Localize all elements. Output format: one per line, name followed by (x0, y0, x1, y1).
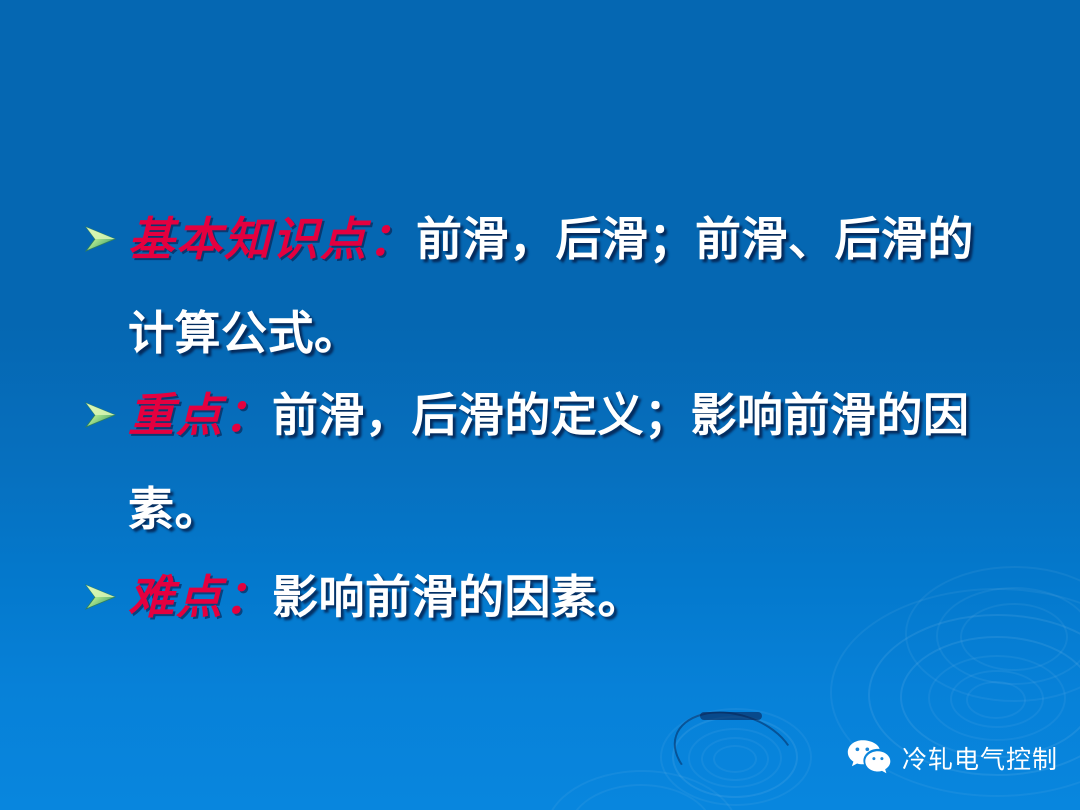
bullet-line: 基本知识点：前滑，后滑；前滑、后滑的 (84, 198, 1024, 292)
bullet-2-body-line-2: 素。 (84, 468, 221, 551)
bullet-item-3: 难点：影响前滑的因素。 (84, 556, 1024, 650)
bullet-2-first-line: 重点：前滑，后滑的定义；影响前滑的因 (84, 374, 970, 457)
bullet-item-2: 重点：前滑，后滑的定义；影响前滑的因 素。 (84, 374, 1024, 562)
wechat-watermark: 冷轧电气控制 (846, 738, 1058, 778)
slide-content: 基本知识点：前滑，后滑；前滑、后滑的 计算公式。 (0, 0, 1080, 810)
bullet-3-first-line: 难点：影响前滑的因素。 (84, 556, 644, 639)
wechat-account-name: 冷轧电气控制 (902, 740, 1058, 776)
bullet-2-lead: 重点： (128, 390, 272, 441)
green-arrowhead-bullet-icon (84, 582, 118, 612)
bullet-3-lead: 难点： (128, 572, 272, 623)
bullet-line: 重点：前滑，后滑的定义；影响前滑的因 (84, 374, 1024, 468)
bullet-line: 计算公式。 (84, 292, 1024, 386)
bullet-1-body-line-1: 前滑，后滑；前滑、后滑的 (416, 214, 974, 265)
bullet-1-first-line: 基本知识点：前滑，后滑；前滑、后滑的 (84, 198, 974, 281)
green-arrowhead-bullet-icon (84, 400, 118, 430)
bullet-1-body-line-2: 计算公式。 (84, 292, 361, 375)
wechat-logo-icon (846, 738, 892, 778)
green-arrowhead-bullet-icon (84, 224, 118, 254)
slide-canvas: 基本知识点：前滑，后滑；前滑、后滑的 计算公式。 (0, 0, 1080, 810)
bullet-line: 难点：影响前滑的因素。 (84, 556, 1024, 650)
bullet-line: 素。 (84, 468, 1024, 562)
bullet-1-lead: 基本知识点： (128, 214, 416, 265)
bullet-3-body-line-1: 影响前滑的因素。 (272, 572, 644, 623)
bullet-item-1: 基本知识点：前滑，后滑；前滑、后滑的 计算公式。 (84, 198, 1024, 386)
bullet-2-body-line-1: 前滑，后滑的定义；影响前滑的因 (272, 390, 970, 441)
